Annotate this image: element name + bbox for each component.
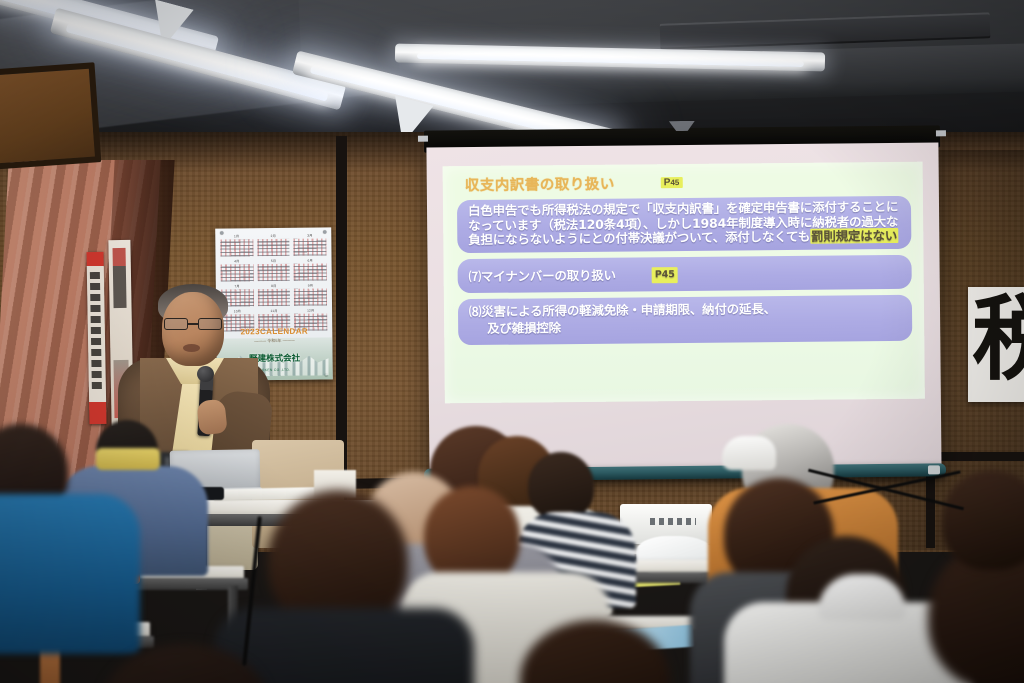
projection-screen: 収支内訳書の取り扱い P45 白色申告でも所得税法の規定で「収支内訳書」を確定申… — [426, 143, 941, 478]
slide-title: 収支内訳書の取り扱い — [465, 173, 615, 195]
seminar-room-photo: 1月 2月 3月 4月 5月 6月 7月 8月 9月 10月 11月 12月 2… — [0, 0, 1024, 683]
slide-item-8-line1: ⑻災害による所得の軽減免除・申請期限、納付の延長、 — [469, 301, 776, 319]
screen-mount-bracket — [669, 121, 695, 131]
calendar-month: 4月 — [221, 259, 254, 281]
calendar-month: 6月 — [294, 258, 327, 280]
calendar-month: 9月 — [294, 283, 327, 305]
slide-item-8-line2: 及び雑損控除 — [469, 319, 561, 337]
presentation-slide: 収支内訳書の取り扱い P45 白色申告でも所得税法の規定で「収支内訳書」を確定申… — [443, 162, 925, 404]
calendar-subtitle: ——— 令和5年 ——— — [216, 337, 332, 344]
screen-pull-knob — [928, 465, 940, 474]
tax-kanji-poster: 税 — [968, 287, 1024, 402]
calendar-title: 2023CALENDAR — [216, 326, 332, 336]
slide-item-7-bubble: ⑺マイナンバーの取り扱い P45 — [457, 255, 911, 293]
screen-endcap-left — [418, 136, 428, 142]
slide-body-bubble-1: 白色申告でも所得税法の規定で「収支内訳書」を確定申告書に添付することになっていま… — [457, 196, 911, 253]
calendar-month: 5月 — [257, 259, 290, 281]
microphone-head-icon — [197, 366, 214, 382]
slide-body-highlight: 罰則規定はない — [810, 228, 898, 244]
calendar-month: 2月 — [257, 234, 290, 256]
calendar-month: 3月 — [294, 233, 327, 255]
presenter-mouth — [183, 344, 200, 352]
slide-item-7-badge: P45 — [652, 267, 678, 284]
slide-header: 収支内訳書の取り扱い P45 — [457, 170, 911, 195]
calendar-month: 8月 — [257, 284, 290, 306]
slide-item-8-bubble: ⑻災害による所得の軽減免除・申請期限、納付の延長、 及び雑損控除 — [458, 295, 912, 345]
presenter-glasses — [164, 318, 222, 330]
calendar-month-grid: 1月 2月 3月 4月 5月 6月 7月 8月 9月 10月 11月 12月 — [220, 233, 327, 331]
presenter-hand — [196, 399, 227, 436]
kanji-glyph: 税 — [972, 291, 1024, 387]
slide-page-badge: P45 — [661, 177, 683, 188]
wooden-wall-panel — [0, 62, 101, 169]
calendar-month: 1月 — [220, 234, 253, 256]
wall-notice-red — [87, 252, 107, 424]
screen-endcap-right — [936, 130, 946, 136]
slide-item-7-text: ⑺マイナンバーの取り扱い — [469, 268, 616, 284]
